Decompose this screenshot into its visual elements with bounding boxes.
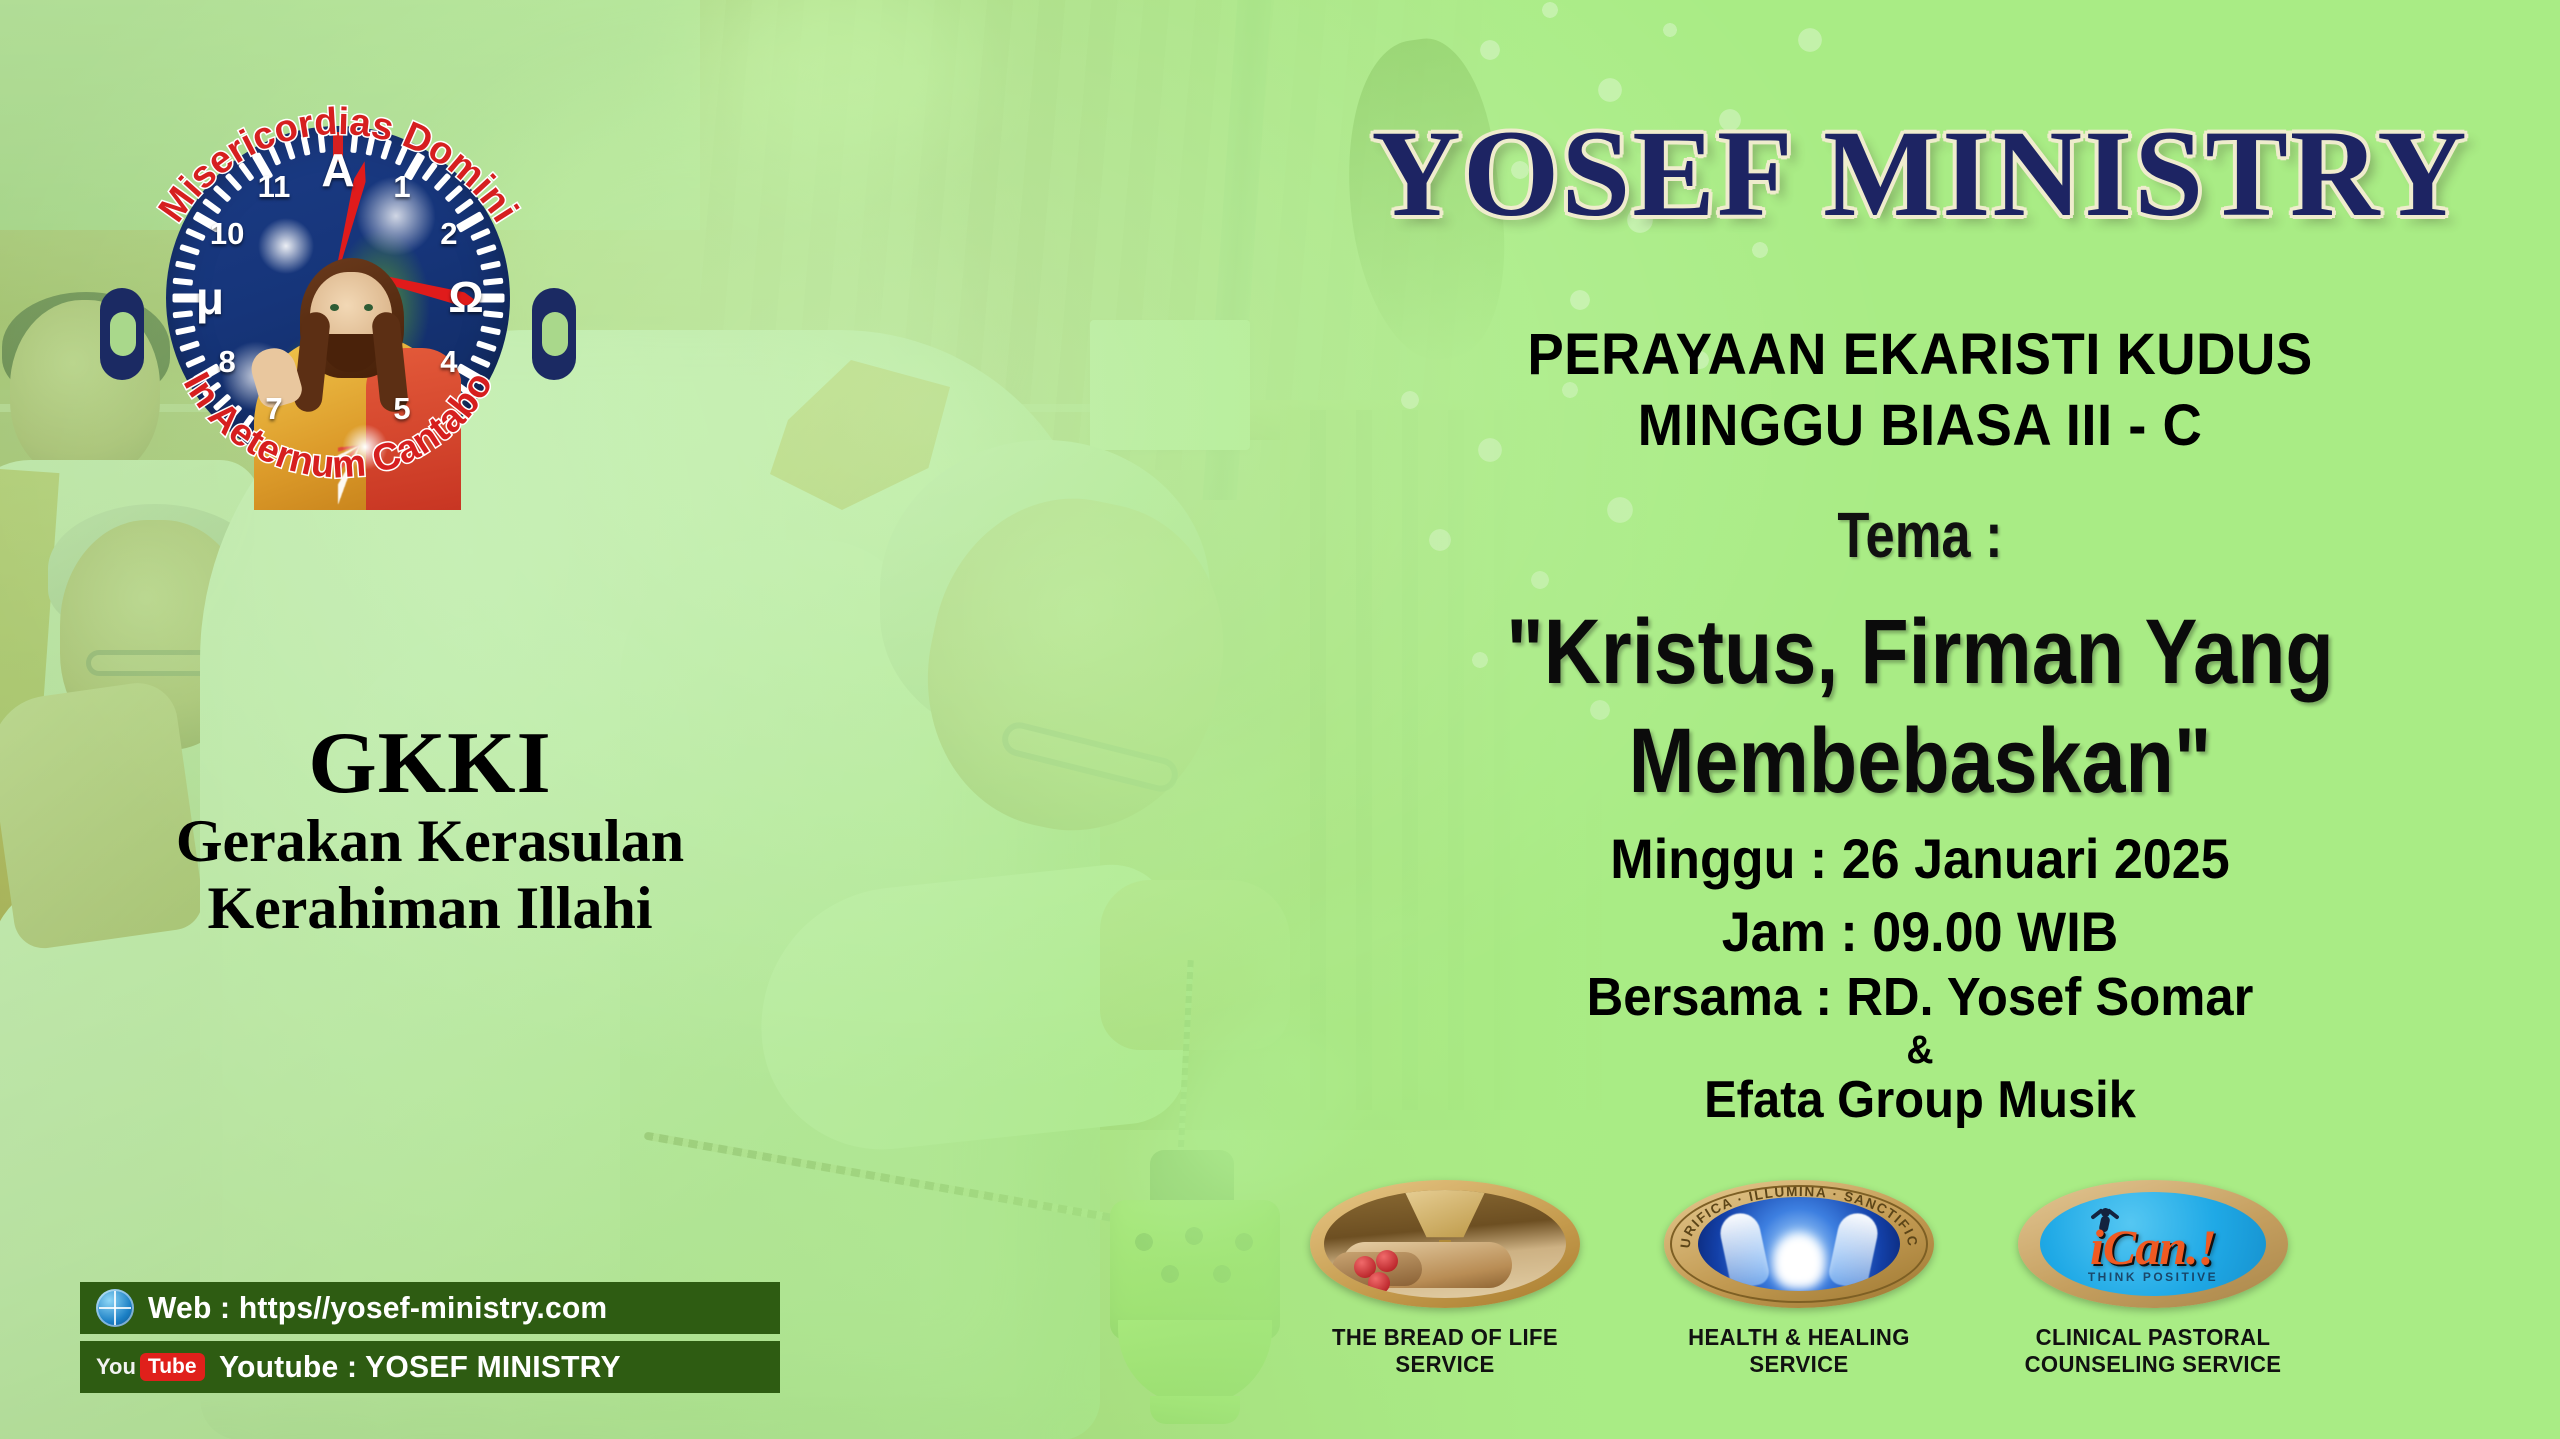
clock-numeral: 2 bbox=[440, 216, 457, 252]
event-flyer: Misericordias Domini In Aeternum Cantabo… bbox=[0, 0, 2560, 1439]
clock-numeral: 10 bbox=[210, 216, 244, 252]
organization-name-block: GKKI Gerakan Kerasulan Kerahiman Illahi bbox=[70, 720, 790, 942]
seal-arc-bottom-text: In Aeternum Cantabo bbox=[175, 365, 501, 487]
clock-numeral: 11 bbox=[258, 169, 291, 205]
event-time: Jam : 09.00 WIB bbox=[1325, 896, 2515, 969]
grape-berry bbox=[1376, 1250, 1398, 1272]
healing-light-glow bbox=[1773, 1233, 1825, 1289]
clock-numeral: 7 bbox=[265, 391, 282, 427]
seal-arc-bottom-label: In Aeternum Cantabo bbox=[175, 365, 501, 487]
badge-caption-line-1: HEALTH & HEALING bbox=[1650, 1324, 1948, 1351]
bread-icon-inner bbox=[1324, 1190, 1566, 1298]
service-badge-bread-of-life: THE BREAD OF LIFE SERVICE bbox=[1290, 1180, 1600, 1378]
clock-numeral: 4 bbox=[440, 344, 457, 380]
theme-label: Tema : bbox=[1395, 498, 2445, 572]
ican-wordmark: iCan.! bbox=[2040, 1218, 2266, 1276]
ampersand: & bbox=[1318, 1030, 2521, 1070]
ican-icon-inner: iCan.! THINK POSITIVE bbox=[2040, 1192, 2266, 1296]
service-badge-health-healing: PURIFICA · ILLUMINA · SANCTIFICA HEALTH … bbox=[1644, 1180, 1954, 1378]
event-subtitle: PERAYAAN EKARISTI KUDUS MINGGU BIASA III… bbox=[1318, 320, 2521, 462]
clock-numeral: 8 bbox=[219, 344, 236, 380]
service-badge-caption: HEALTH & HEALING SERVICE bbox=[1650, 1324, 1948, 1378]
healing-icon-inner bbox=[1698, 1197, 1900, 1291]
badge-caption-line-2: COUNSELING SERVICE bbox=[2004, 1351, 2302, 1378]
gkki-logo-seal: Misericordias Domini In Aeternum Cantabo… bbox=[128, 88, 548, 508]
website-label: Web : https//yosef-ministry.com bbox=[148, 1290, 607, 1326]
youtube-icon-tube: Tube bbox=[140, 1353, 205, 1381]
ican-tagline: THINK POSITIVE bbox=[2040, 1270, 2266, 1284]
theme-line-2: Membebaskan" bbox=[1370, 707, 2471, 816]
contact-bars: Web : https//yosef-ministry.com You Tube… bbox=[80, 1282, 780, 1400]
clock-numeral: Ω bbox=[448, 273, 483, 323]
celebrant-name: Bersama : RD. Yosef Somar bbox=[1318, 970, 2521, 1024]
service-badges: THE BREAD OF LIFE SERVICE PURIFICA · ILL… bbox=[1290, 1180, 2370, 1378]
subtitle-line-1: PERAYAAN EKARISTI KUDUS bbox=[1318, 320, 2521, 391]
org-name-line-1: Gerakan Kerasulan bbox=[70, 808, 790, 875]
clock-numeral: A bbox=[321, 143, 354, 197]
badge-caption-line-1: CLINICAL PASTORAL bbox=[2004, 1324, 2302, 1351]
badge-caption-line-2: SERVICE bbox=[1650, 1351, 1948, 1378]
globe-icon bbox=[96, 1289, 134, 1327]
theme-text: "Kristus, Firman Yang Membebaskan" bbox=[1370, 598, 2471, 815]
event-date: Minggu : 26 Januari 2025 bbox=[1325, 823, 2515, 896]
clock-numeral: μ bbox=[196, 271, 224, 325]
page-title: YOSEF MINISTRY bbox=[1280, 112, 2560, 236]
subtitle-line-2: MINGGU BIASA III - C bbox=[1318, 391, 2521, 462]
youtube-icon-you: You bbox=[96, 1354, 136, 1380]
service-badge-caption: CLINICAL PASTORAL COUNSELING SERVICE bbox=[2004, 1324, 2302, 1378]
org-name-line-2: Kerahiman Illahi bbox=[70, 875, 790, 942]
theme-line-1: "Kristus, Firman Yang bbox=[1370, 598, 2471, 707]
badge-caption-line-1: THE BREAD OF LIFE bbox=[1296, 1324, 1594, 1351]
service-badge-caption: THE BREAD OF LIFE SERVICE bbox=[1296, 1324, 1594, 1378]
ican-logo-icon: iCan.! THINK POSITIVE bbox=[2018, 1180, 2288, 1308]
music-group: Efata Group Musik bbox=[1318, 1074, 2521, 1126]
grape-berry bbox=[1368, 1272, 1390, 1294]
clock-numeral: 1 bbox=[393, 169, 410, 205]
service-badge-pastoral-counseling: iCan.! THINK POSITIVE CLINICAL PASTORAL … bbox=[1998, 1180, 2308, 1378]
youtube-icon: You Tube bbox=[96, 1353, 205, 1381]
healing-hands-icon: PURIFICA · ILLUMINA · SANCTIFICA bbox=[1664, 1180, 1934, 1308]
youtube-label: Youtube : YOSEF MINISTRY bbox=[219, 1349, 621, 1385]
youtube-bar[interactable]: You Tube Youtube : YOSEF MINISTRY bbox=[80, 1341, 780, 1393]
schedule-block: Minggu : 26 Januari 2025 Jam : 09.00 WIB bbox=[1325, 823, 2515, 969]
celebrant-block: Bersama : RD. Yosef Somar & Efata Group … bbox=[1318, 970, 2521, 1126]
website-bar[interactable]: Web : https//yosef-ministry.com bbox=[80, 1282, 780, 1334]
clock-numeral: 5 bbox=[393, 391, 410, 427]
chalice-shape bbox=[1403, 1190, 1487, 1246]
org-abbreviation: GKKI bbox=[70, 720, 790, 808]
chalice-bread-icon bbox=[1310, 1180, 1580, 1308]
badge-caption-line-2: SERVICE bbox=[1296, 1351, 1594, 1378]
